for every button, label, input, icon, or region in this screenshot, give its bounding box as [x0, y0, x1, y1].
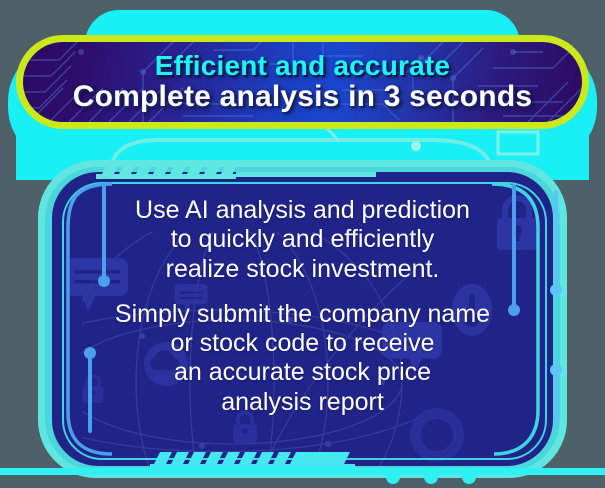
- rule-top: [236, 172, 376, 177]
- paragraph-1-line-1: Use AI analysis and prediction: [0, 196, 605, 225]
- hero-banner-surface: Efficient and accurate Complete analysis…: [23, 42, 582, 122]
- banner-subheadline: Complete analysis in 3 seconds: [73, 81, 533, 113]
- paragraph-2-line-2: or stock code to receive: [0, 329, 605, 358]
- paragraph-2-line-1: Simply submit the company name: [0, 300, 605, 329]
- bottom-dot-2: [424, 470, 438, 484]
- paragraph-2-line-4: analysis report: [0, 388, 605, 417]
- paragraph-1-line-2: to quickly and efficiently: [0, 225, 605, 254]
- bottom-dot-3: [462, 470, 476, 484]
- panel-copy: Use AI analysis and prediction to quickl…: [0, 196, 605, 417]
- bottom-dot-1: [386, 470, 400, 484]
- paragraph-2-line-3: an accurate stock price: [0, 358, 605, 387]
- paragraph-2: Simply submit the company name or stock …: [0, 300, 605, 417]
- paragraph-1-line-3: realize stock investment.: [0, 255, 605, 284]
- promo-card: Efficient and accurate Complete analysis…: [0, 0, 605, 488]
- hatch-decor-top: [96, 162, 236, 180]
- bottom-edge-bar: [0, 468, 605, 475]
- banner-headline: Efficient and accurate: [155, 51, 450, 80]
- paragraph-1: Use AI analysis and prediction to quickl…: [0, 196, 605, 284]
- hero-banner: Efficient and accurate Complete analysis…: [18, 37, 587, 127]
